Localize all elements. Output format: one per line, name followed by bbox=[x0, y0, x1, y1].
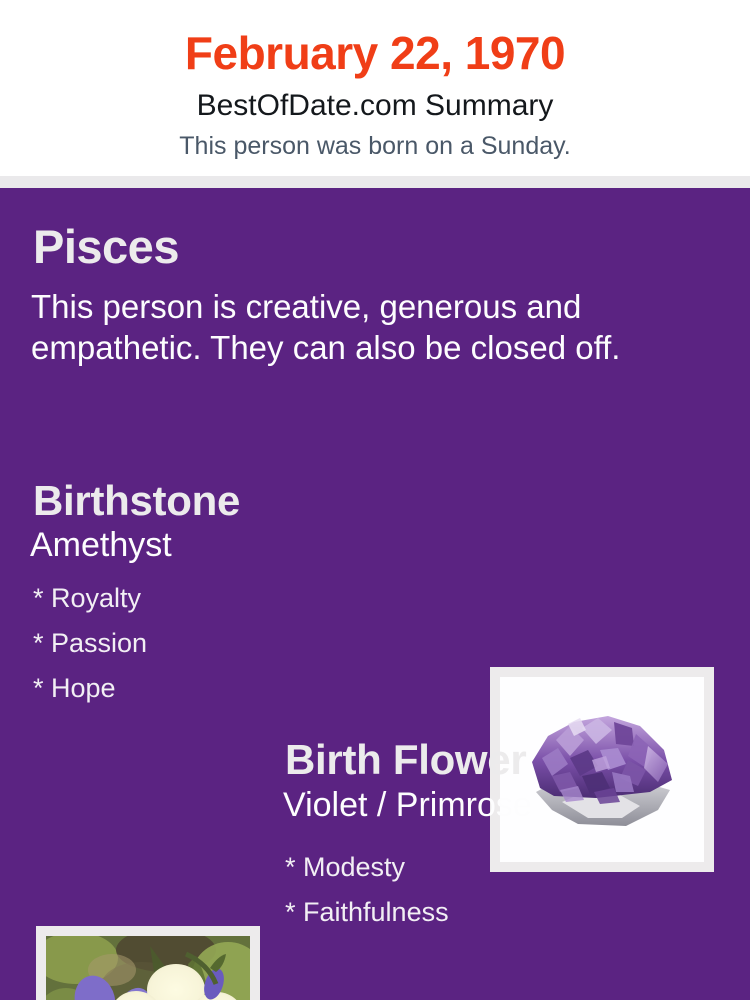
birth-flower-name: Violet / Primrose bbox=[283, 785, 532, 825]
site-summary-label: BestOfDate.com Summary bbox=[0, 88, 750, 124]
birth-day-note: This person was born on a Sunday. bbox=[0, 130, 750, 162]
zodiac-sign-heading: Pisces bbox=[33, 220, 179, 274]
page-header: February 22, 1970 BestOfDate.com Summary… bbox=[0, 0, 750, 176]
birth-flower-trait-list: * Modesty * Faithfulness bbox=[285, 845, 705, 935]
summary-panel: Pisces This person is creative, generous… bbox=[0, 188, 750, 1000]
birth-flower-heading: Birth Flower bbox=[285, 736, 526, 784]
birthstone-heading: Birthstone bbox=[33, 477, 240, 525]
list-item: * Modesty bbox=[285, 845, 705, 890]
header-divider bbox=[0, 176, 750, 188]
list-item: * Faithfulness bbox=[285, 890, 705, 935]
list-item: * Hope bbox=[33, 666, 363, 711]
list-item: * Passion bbox=[33, 621, 363, 666]
zodiac-description: This person is creative, generous and em… bbox=[31, 286, 703, 368]
birth-flower-photo bbox=[46, 936, 250, 1000]
birthstone-name: Amethyst bbox=[30, 525, 172, 565]
amethyst-crystal-icon bbox=[522, 706, 682, 834]
page-root: February 22, 1970 BestOfDate.com Summary… bbox=[0, 0, 750, 1000]
list-item: * Royalty bbox=[33, 576, 363, 621]
birthstone-trait-list: * Royalty * Passion * Hope bbox=[33, 576, 363, 711]
birthstone-photo bbox=[500, 677, 704, 862]
birth-flower-photo-frame bbox=[36, 926, 260, 1000]
page-title-date: February 22, 1970 bbox=[0, 26, 750, 80]
violet-primrose-icon bbox=[46, 936, 250, 1000]
